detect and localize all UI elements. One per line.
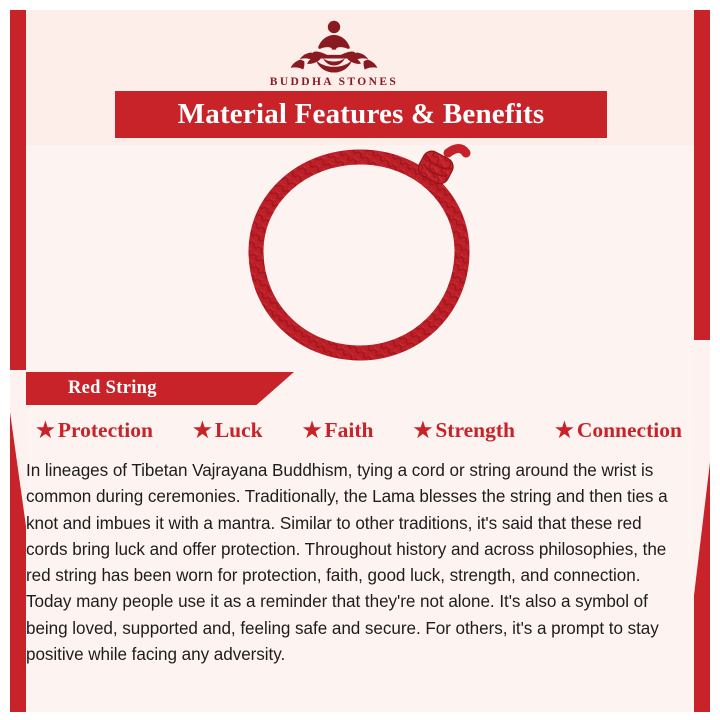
description-text: In lineages of Tibetan Vajrayana Buddhis…: [26, 458, 668, 668]
page-frame-right: [710, 0, 720, 720]
lotus-meditation-icon: [0, 18, 668, 74]
brand-name: BUDDHA STONES: [0, 76, 668, 88]
product-name-label: Red String: [68, 378, 157, 399]
keyword-item: ★ Protection: [36, 418, 153, 443]
keyword-label: Protection: [58, 418, 153, 443]
star-icon: ★: [303, 420, 322, 441]
keyword-label: Connection: [577, 418, 682, 443]
star-icon: ★: [414, 420, 433, 441]
keyword-label: Luck: [215, 418, 263, 443]
benefit-keywords-row: ★ Protection ★ Luck ★ Faith ★ Strength ★…: [36, 418, 688, 443]
product-image-area: [26, 138, 694, 378]
star-icon: ★: [193, 420, 212, 441]
red-braided-string-bracelet: [26, 138, 694, 378]
star-icon: ★: [555, 420, 574, 441]
description-block: In lineages of Tibetan Vajrayana Buddhis…: [26, 458, 694, 668]
keyword-item: ★ Connection: [555, 418, 682, 443]
page-frame-left: [0, 0, 10, 720]
page-frame-top: [0, 0, 720, 10]
keyword-item: ★ Strength: [414, 418, 515, 443]
keyword-label: Faith: [324, 418, 373, 443]
product-name-tab: Red String: [26, 372, 294, 405]
page-frame-bottom: [0, 712, 720, 720]
infographic-page: BUDDHA STONES Material Features & Benefi…: [0, 0, 720, 720]
title-banner: Material Features & Benefits: [115, 91, 607, 138]
keyword-item: ★ Luck: [193, 418, 263, 443]
brand-logo: BUDDHA STONES: [0, 18, 668, 88]
star-icon: ★: [36, 420, 55, 441]
keyword-item: ★ Faith: [303, 418, 374, 443]
page-title: Material Features & Benefits: [178, 98, 545, 131]
keyword-label: Strength: [435, 418, 515, 443]
